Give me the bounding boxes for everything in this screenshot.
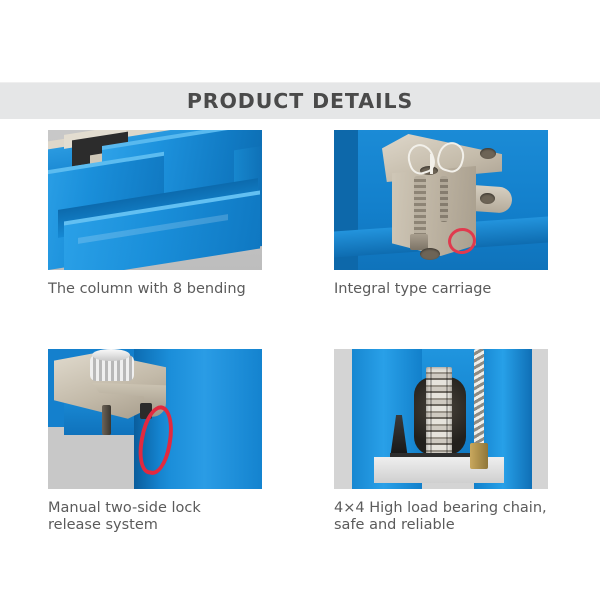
detail-card-manual-lock-release: Manual two-side lock release system [48,349,262,535]
detail-caption: Integral type carriage [334,281,548,299]
photo-column-8-bending [48,130,262,270]
detail-caption: 4×4 High load bearing chain, safe and re… [334,500,548,535]
photo-integral-carriage [334,130,548,270]
product-details-header: PRODUCT DETAILS [0,82,600,119]
details-row-2: Manual two-side lock release system 4×4 … [48,349,548,535]
product-details-grid: The column with 8 bending [48,130,548,535]
photo-manual-lock-release [48,349,262,489]
page-title: PRODUCT DETAILS [187,89,413,113]
details-row-1: The column with 8 bending [48,130,548,299]
detail-caption: The column with 8 bending [48,281,262,299]
detail-card-column-8-bending: The column with 8 bending [48,130,262,299]
detail-card-high-load-chain: 4×4 High load bearing chain, safe and re… [334,349,548,535]
detail-card-integral-carriage: Integral type carriage [334,130,548,299]
photo-high-load-chain [334,349,548,489]
detail-caption: Manual two-side lock release system [48,500,262,535]
